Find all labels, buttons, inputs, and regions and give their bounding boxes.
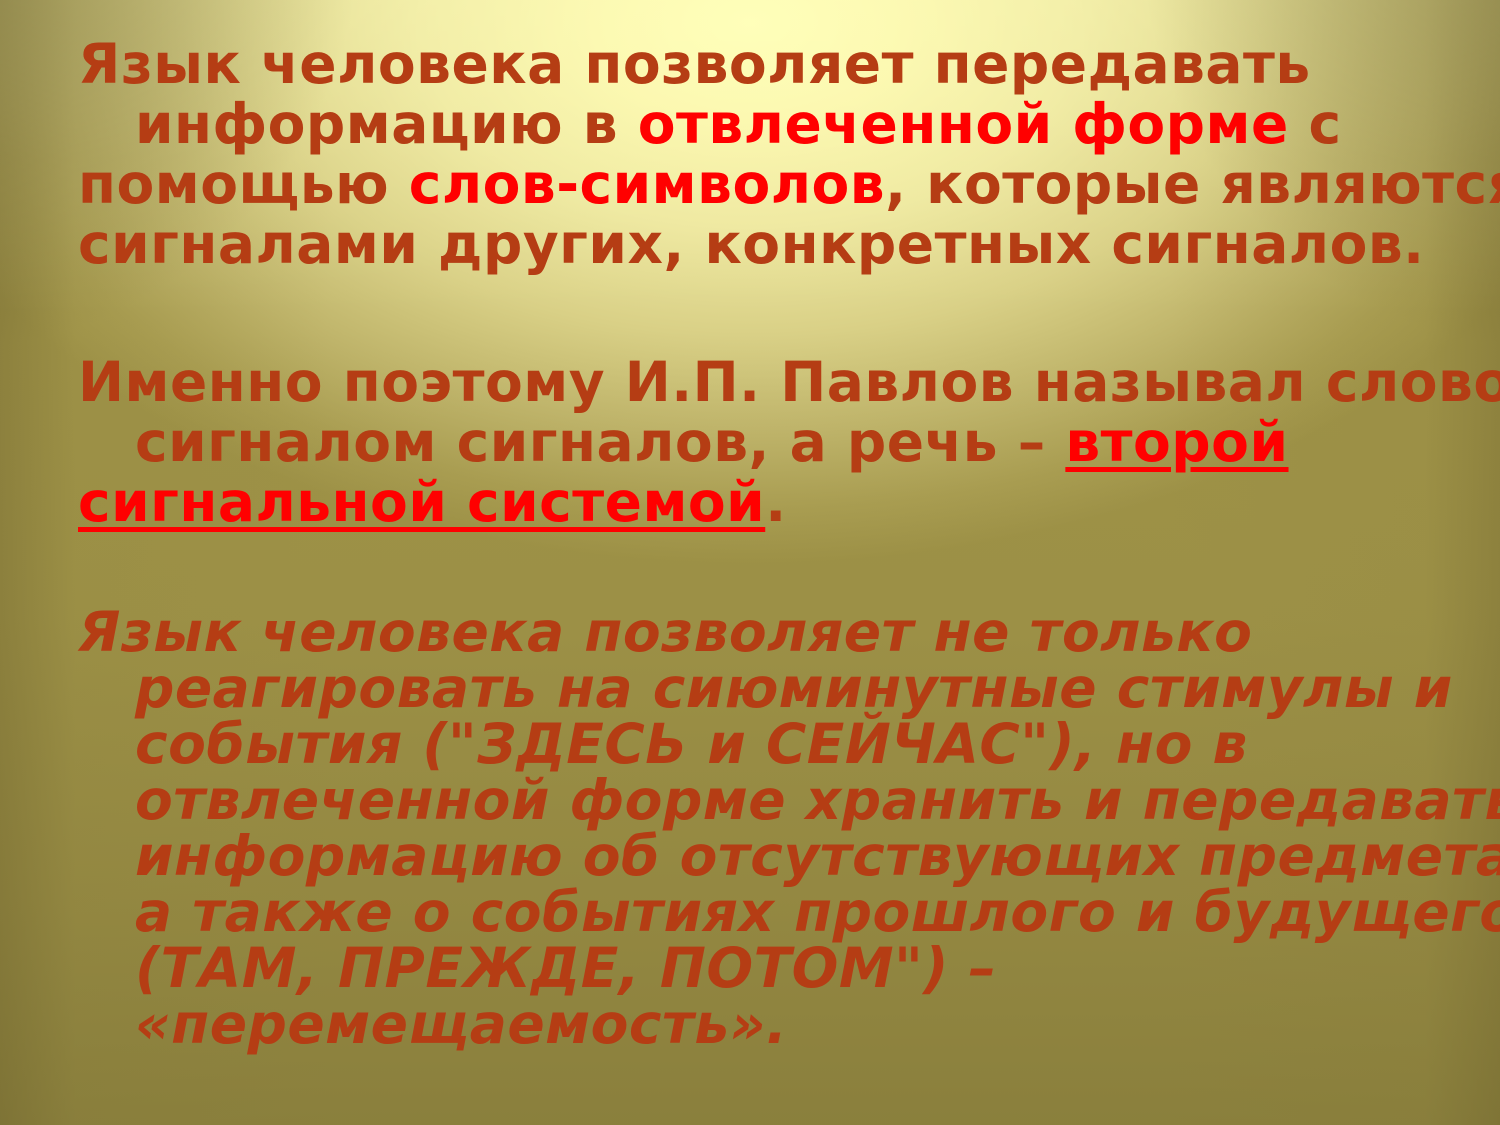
slide-text-run: сигналом сигналов, а речь – [135,410,1065,474]
slide-text-run: Именно поэтому И.П. Павлов называл слово… [78,350,1500,414]
slide-text-run: а также о событиях прошлого и будущего [135,880,1500,944]
slide-text-run: информацию в [135,92,638,156]
slide-text-line: информацию в отвлеченной форме с [78,94,1478,154]
slide-text-run: Язык человека позволяет не только [78,600,1252,664]
slide-paragraph-2: Именно поэтому И.П. Павлов называл слово… [78,352,1478,532]
slide-text-run: , которые являются [885,152,1500,216]
slide-text-run: помощью [78,152,409,216]
slide-text-run: (ТАМ, ПРЕЖДЕ, ПОТОМ") – [135,936,997,1000]
slide-text-run-emphasis: слов-символов [409,152,885,216]
slide-text-line: Язык человека позволяет не только [78,604,1478,660]
slide-text-run-emphasis: второй [1065,410,1288,474]
slide-text-run: Язык человека позволяет передавать [78,32,1311,96]
slide-paragraph-3: Язык человека позволяет не толькореагиро… [78,604,1478,1052]
slide-text-run: с [1289,92,1342,156]
slide-text-line: «перемещаемость». [78,996,1478,1052]
slide-text-line: реагировать на сиюминутные стимулы и [78,660,1478,716]
slide-text-line: а также о событиях прошлого и будущего [78,884,1478,940]
slide-text-line: (ТАМ, ПРЕЖДЕ, ПОТОМ") – [78,940,1478,996]
slide-text-run: отвлеченной форме хранить и передавать [135,768,1500,832]
slide-text-run: события ("ЗДЕСЬ и СЕЙЧАС"), но в [135,712,1248,776]
slide-text-line: Язык человека позволяет передавать [78,34,1478,94]
slide-text-line: сигнальной системой. [78,472,1478,532]
slide-text-line: Именно поэтому И.П. Павлов называл слово… [78,352,1478,412]
slide-text-run: сигналами других, конкретных сигналов. [78,212,1425,276]
slide-text-line: помощью слов-символов, которые являются [78,154,1478,214]
slide-paragraph-1: Язык человека позволяет передаватьинформ… [78,34,1478,274]
slide-text-line: отвлеченной форме хранить и передавать [78,772,1478,828]
slide-text-run-emphasis: сигнальной системой [78,470,765,534]
presentation-slide: Язык человека позволяет передаватьинформ… [0,0,1500,1125]
slide-text-line: сигналом сигналов, а речь – второй [78,412,1478,472]
slide-text-run-emphasis: отвлеченной форме [638,92,1289,156]
slide-text-run: «перемещаемость». [135,992,787,1056]
slide-text-line: информацию об отсутствующих предметах, [78,828,1478,884]
slide-text-line: события ("ЗДЕСЬ и СЕЙЧАС"), но в [78,716,1478,772]
slide-text-run: . [765,470,786,534]
slide-text-run: реагировать на сиюминутные стимулы и [135,656,1453,720]
slide-text-line: сигналами других, конкретных сигналов. [78,214,1478,274]
slide-text-run: информацию об отсутствующих предметах, [135,824,1500,888]
